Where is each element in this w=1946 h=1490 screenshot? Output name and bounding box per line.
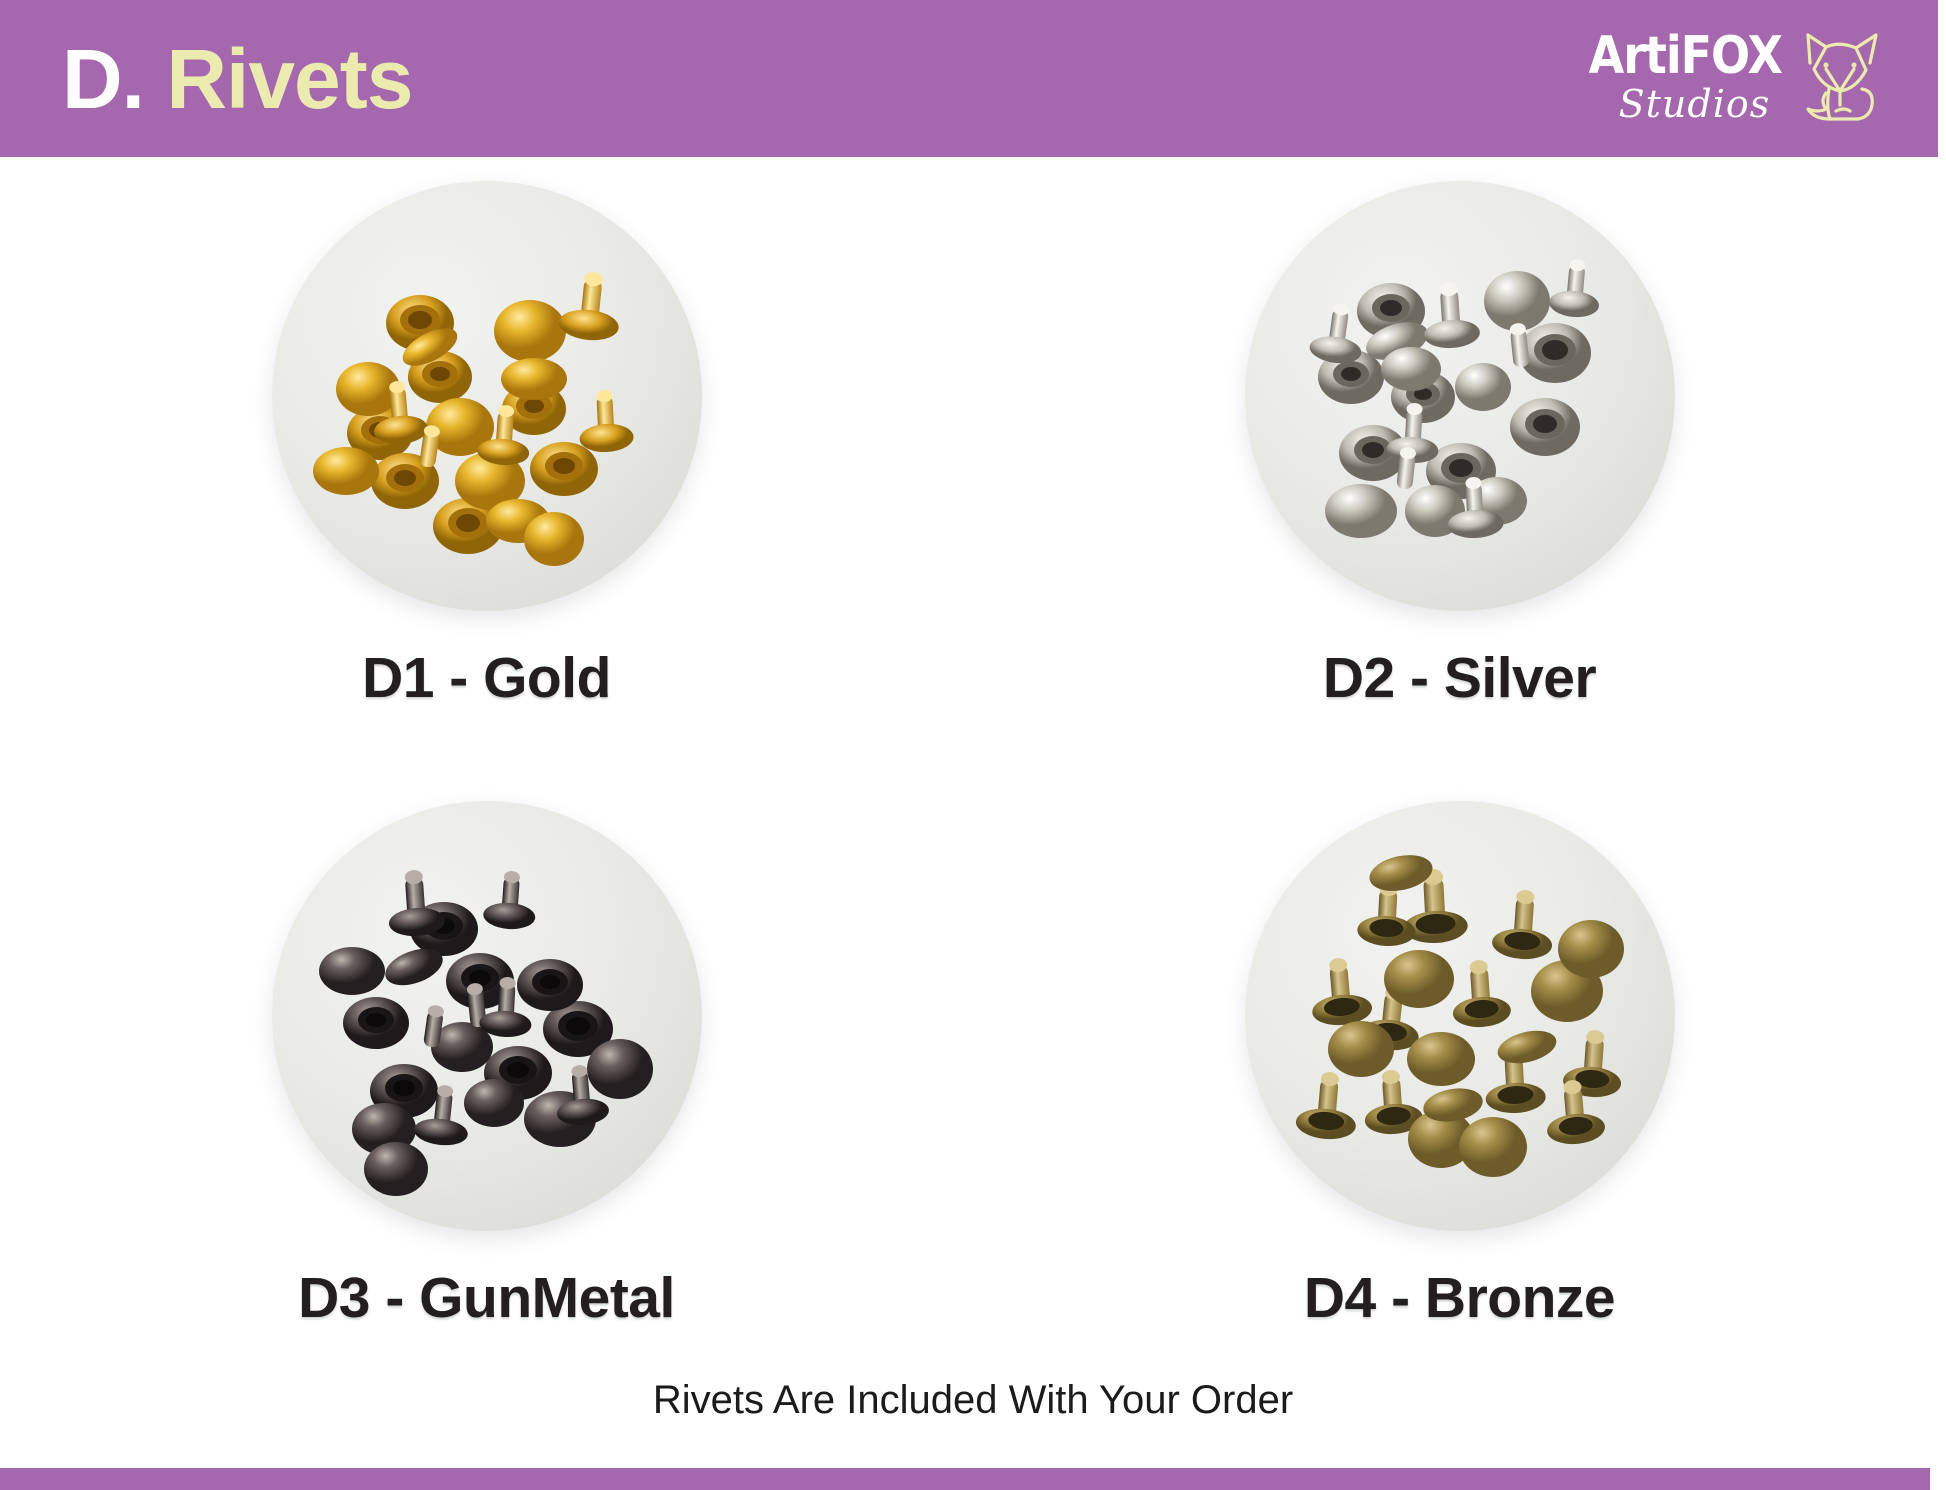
brand-logo: ArtiFOX Studios <box>1589 27 1892 131</box>
page-title-prefix: D. <box>62 32 144 126</box>
page-title: D. Rivets <box>62 37 412 121</box>
gunmetal-rivets-illustration <box>272 801 702 1231</box>
bronze-rivets-photo <box>1245 801 1675 1231</box>
gold-rivets-illustration <box>272 181 702 611</box>
header-band: D. Rivets ArtiFOX Studios <box>0 0 1938 157</box>
catalog-page: D. Rivets ArtiFOX Studios <box>0 0 1946 1490</box>
swatch-cell-d2[interactable]: D2 - Silver <box>973 157 1946 777</box>
fox-outline-icon <box>1796 27 1892 131</box>
swatch-cell-d1[interactable]: D1 - Gold <box>0 157 973 777</box>
swatch-label-d2: D2 - Silver <box>1323 645 1596 711</box>
gunmetal-rivets-photo <box>272 801 702 1231</box>
footer-band <box>0 1468 1930 1490</box>
swatch-label-d3: D3 - GunMetal <box>298 1265 675 1331</box>
page-title-main: Rivets <box>166 32 412 126</box>
swatch-cell-d4[interactable]: D4 - Bronze <box>973 777 1946 1397</box>
logo-wordmark: ArtiFOX Studios <box>1589 35 1782 123</box>
swatch-label-d4: D4 - Bronze <box>1304 1265 1615 1331</box>
bronze-rivets-illustration <box>1245 801 1675 1231</box>
silver-rivets-illustration <box>1245 181 1675 611</box>
footer-note: Rivets Are Included With Your Order <box>0 1378 1946 1423</box>
rivet-swatch-grid: D1 - Gold <box>0 157 1946 1397</box>
silver-rivets-photo <box>1245 181 1675 611</box>
logo-brand-text: ArtiFOX <box>1589 29 1782 81</box>
swatch-label-d1: D1 - Gold <box>362 645 611 711</box>
logo-sub-text: Studios <box>1619 85 1771 123</box>
gold-rivets-photo <box>272 181 702 611</box>
swatch-cell-d3[interactable]: D3 - GunMetal <box>0 777 973 1397</box>
